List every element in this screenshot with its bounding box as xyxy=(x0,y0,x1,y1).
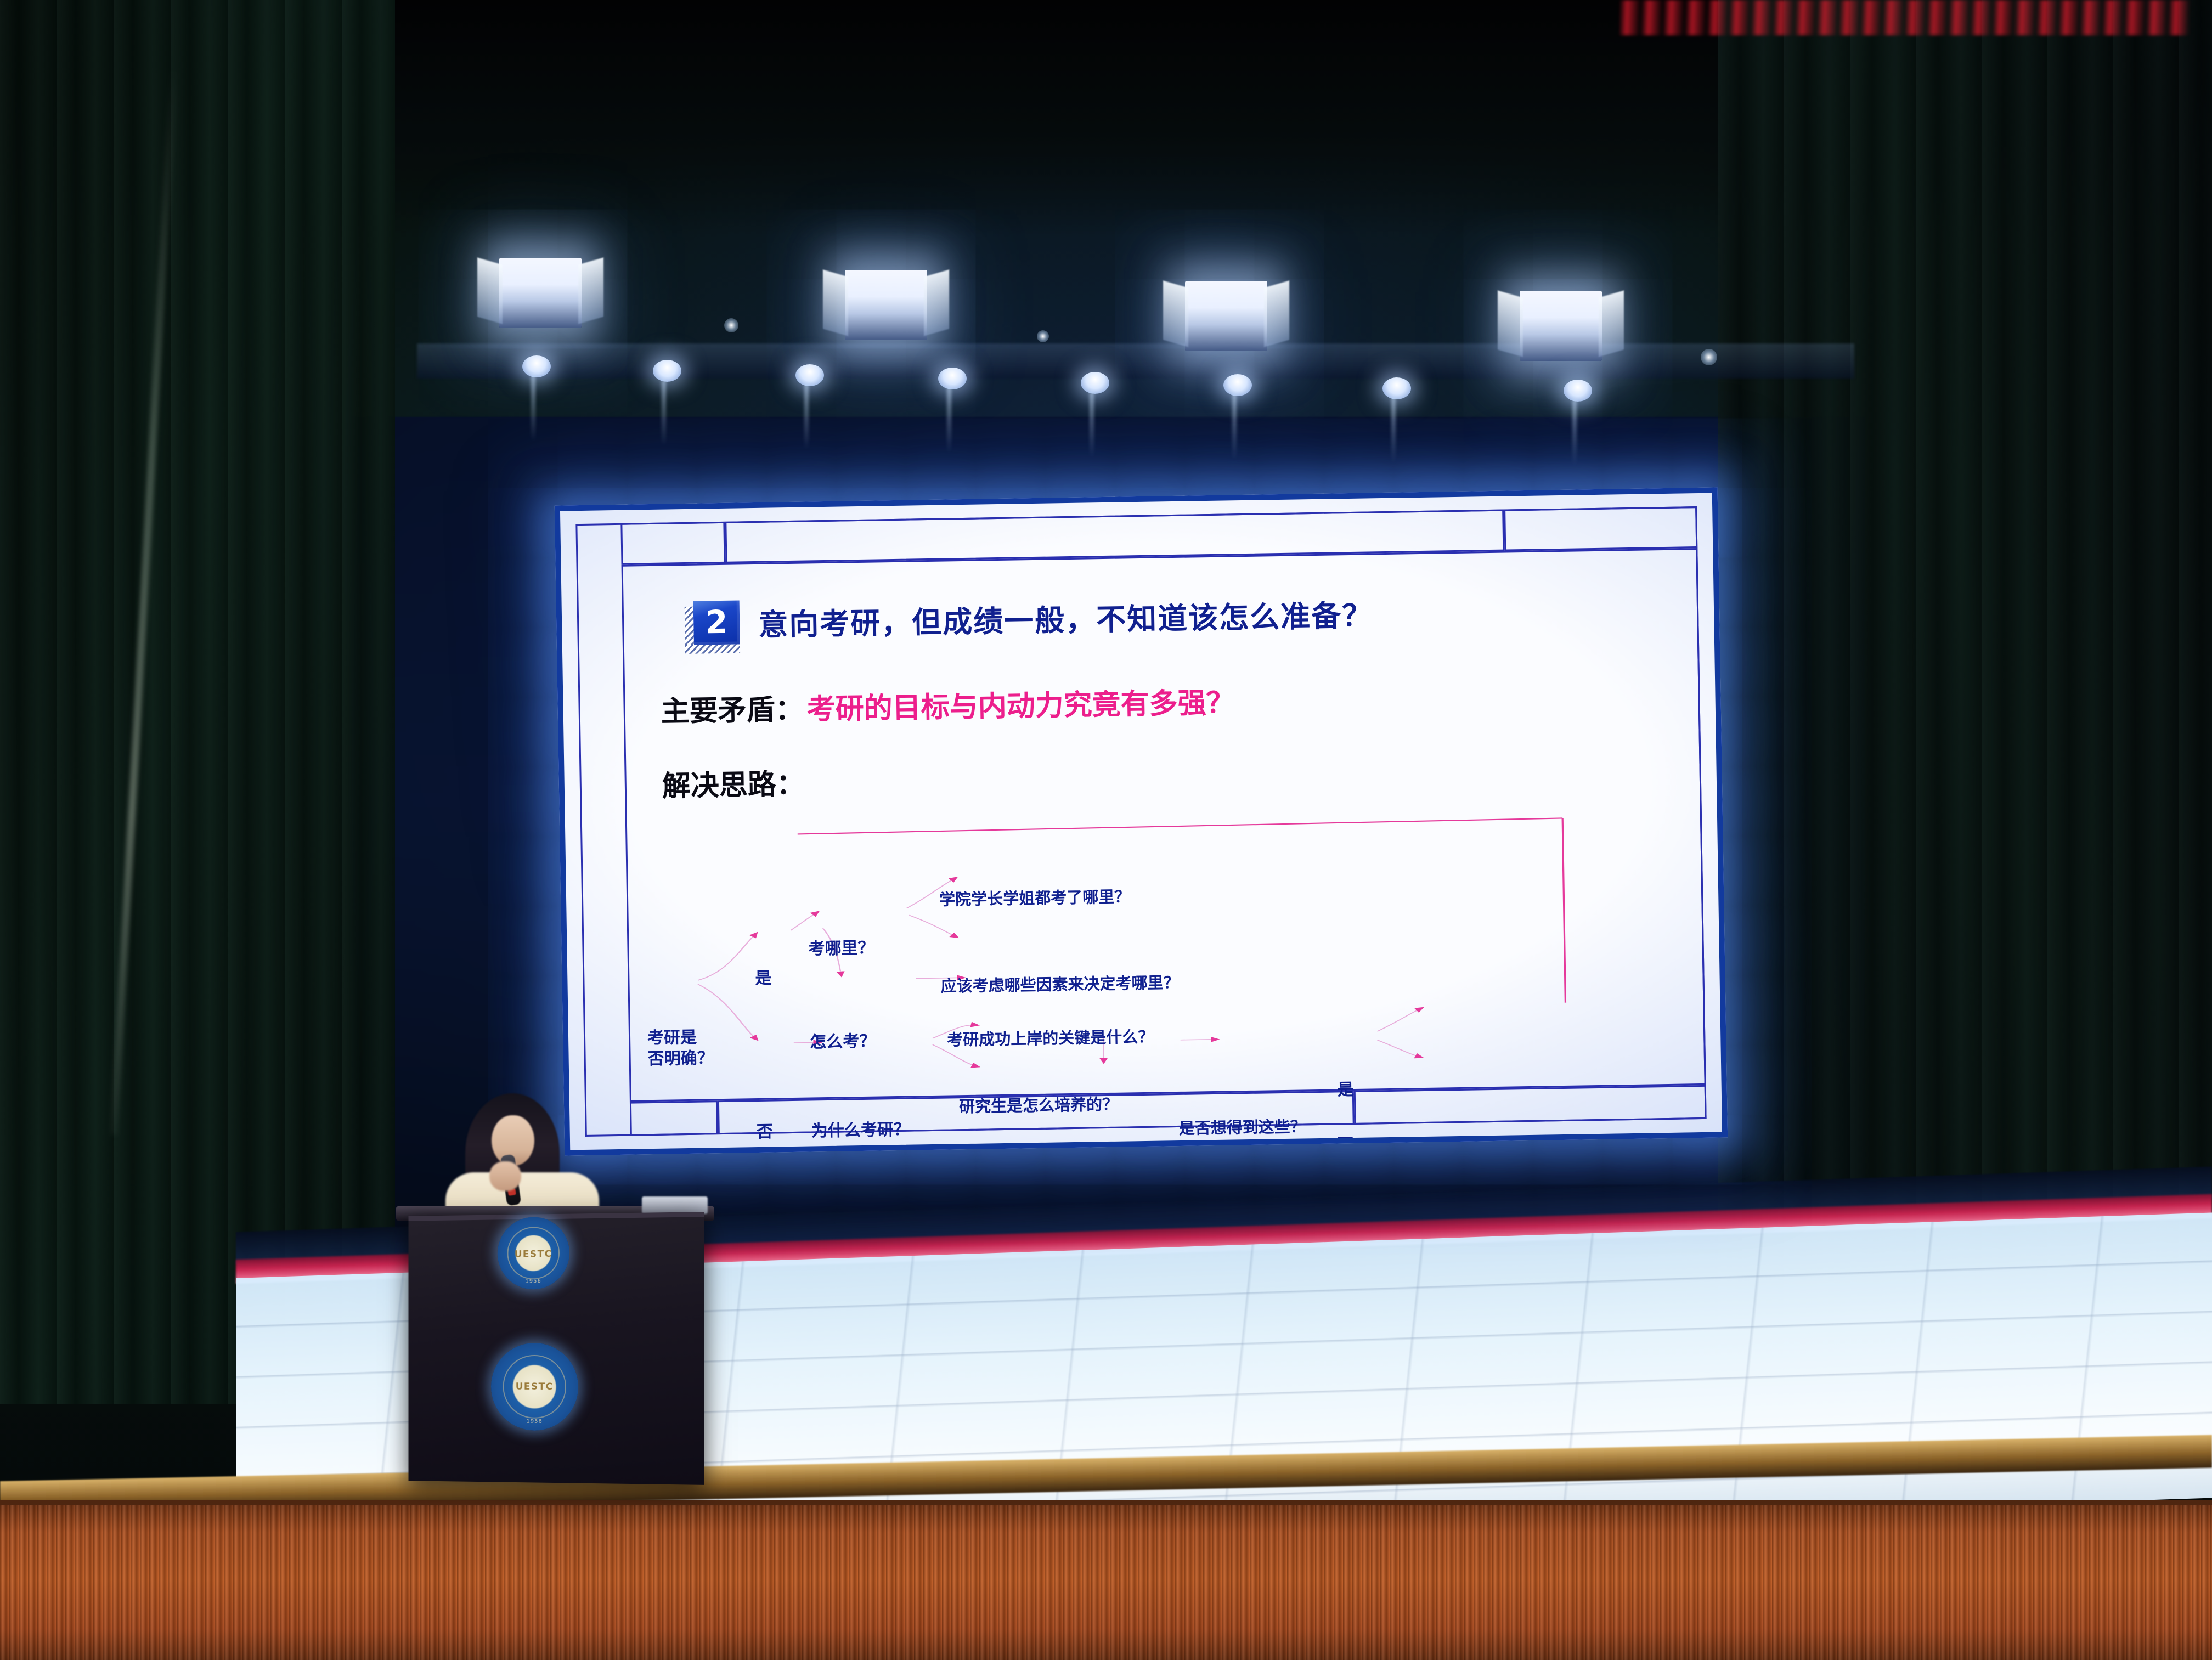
stage-light-small-6 xyxy=(1223,374,1252,396)
tree-node-question-4: 研究生是怎么培养的？ xyxy=(959,1095,1119,1116)
solution-heading: 解决思路： xyxy=(662,761,805,804)
tree-node-how: 怎么考？ xyxy=(810,1032,876,1052)
podium-lectern: UESTC 1956 UESTC 1956 xyxy=(409,1212,704,1485)
slide-frame-top-block-3 xyxy=(1504,506,1697,551)
stage-light-large-3 xyxy=(1185,281,1267,351)
slide-frame-bottom-block-3 xyxy=(1354,1085,1707,1125)
stage-light-small-8 xyxy=(1564,380,1592,402)
university-logo-icon-upper: UESTC 1956 xyxy=(498,1217,569,1290)
stage-curtain-left xyxy=(0,0,395,1404)
laptop-on-podium xyxy=(642,1196,708,1214)
tree-branch-label-no: 否 xyxy=(757,1122,774,1142)
tree-node-question-1: 学院学长学姐都考了哪里？ xyxy=(939,887,1131,909)
lighting-truss xyxy=(417,236,1854,472)
slide-frame-top-block-1 xyxy=(620,522,725,565)
truss-bar xyxy=(417,343,1854,379)
stage-light-small-3 xyxy=(795,364,824,386)
tree-node-question-2: 应该考虑哪些因素来决定考哪里？ xyxy=(940,973,1179,996)
projection-screen[interactable]: 2 意向考研，但成绩一般，不知道该怎么准备？ 主要矛盾： 考研的目标与内动力究竟… xyxy=(555,487,1728,1155)
light-flare-1 xyxy=(724,318,738,332)
auditorium-stage-scene: 2 意向考研，但成绩一般，不知道该怎么准备？ 主要矛盾： 考研的目标与内动力究竟… xyxy=(0,0,2212,1660)
decision-tree-diagram: 考研是 否明确？ 是 否 考哪里？ 怎么考？ 为什么考研？ 学院学长学姐都考了哪… xyxy=(625,800,1697,1099)
tree-branch-label-yes: 是 xyxy=(755,969,772,989)
stage-light-small-2 xyxy=(653,360,681,382)
tree-node-where: 考哪里？ xyxy=(808,939,874,959)
logo-year-lower: 1956 xyxy=(491,1418,578,1425)
tree-node-final-question: 是否想得到这些？ xyxy=(1179,1117,1307,1138)
tree-node-root-line2: 否明确？ xyxy=(647,1048,714,1069)
stage-light-large-1 xyxy=(499,258,582,328)
tree-node-question-3: 考研成功上岸的关键是什么？ xyxy=(947,1027,1154,1049)
tree-node-root: 考研是 否明确？ xyxy=(647,1027,714,1069)
red-led-strip xyxy=(1620,0,2190,35)
podium-and-speaker: UESTC 1956 UESTC 1956 xyxy=(406,1089,702,1484)
speaker-hand xyxy=(489,1161,521,1191)
tree-outcome-yes: 是 xyxy=(1337,1080,1354,1100)
stage-light-large-2 xyxy=(845,270,927,340)
decision-tree-connectors xyxy=(625,800,1697,1099)
logo-text-lower: UESTC xyxy=(491,1381,578,1393)
slide-title: 意向考研，但成绩一般，不知道该怎么准备？ xyxy=(758,591,1373,644)
light-flare-3 xyxy=(1701,349,1717,365)
tree-node-root-line1: 考研是 xyxy=(647,1028,697,1048)
stage-light-small-1 xyxy=(522,355,551,377)
main-contradiction-value: 考研的目标与内动力究竟有多强？ xyxy=(806,679,1235,727)
stage-apron-wood-panel xyxy=(0,1500,2212,1660)
stage-light-small-5 xyxy=(1081,372,1109,394)
main-contradiction-label: 主要矛盾： xyxy=(661,686,804,730)
stage-light-small-7 xyxy=(1383,377,1411,399)
number-badge-icon: 2 xyxy=(693,600,740,645)
stage-light-small-4 xyxy=(938,368,967,389)
logo-text-upper: UESTC xyxy=(498,1249,569,1260)
logo-year-upper: 1956 xyxy=(498,1278,569,1285)
stage-light-large-4 xyxy=(1520,291,1602,361)
university-logo-icon-lower: UESTC 1956 xyxy=(491,1343,578,1431)
light-flare-2 xyxy=(1037,330,1049,342)
tree-node-why: 为什么考研？ xyxy=(811,1120,911,1141)
